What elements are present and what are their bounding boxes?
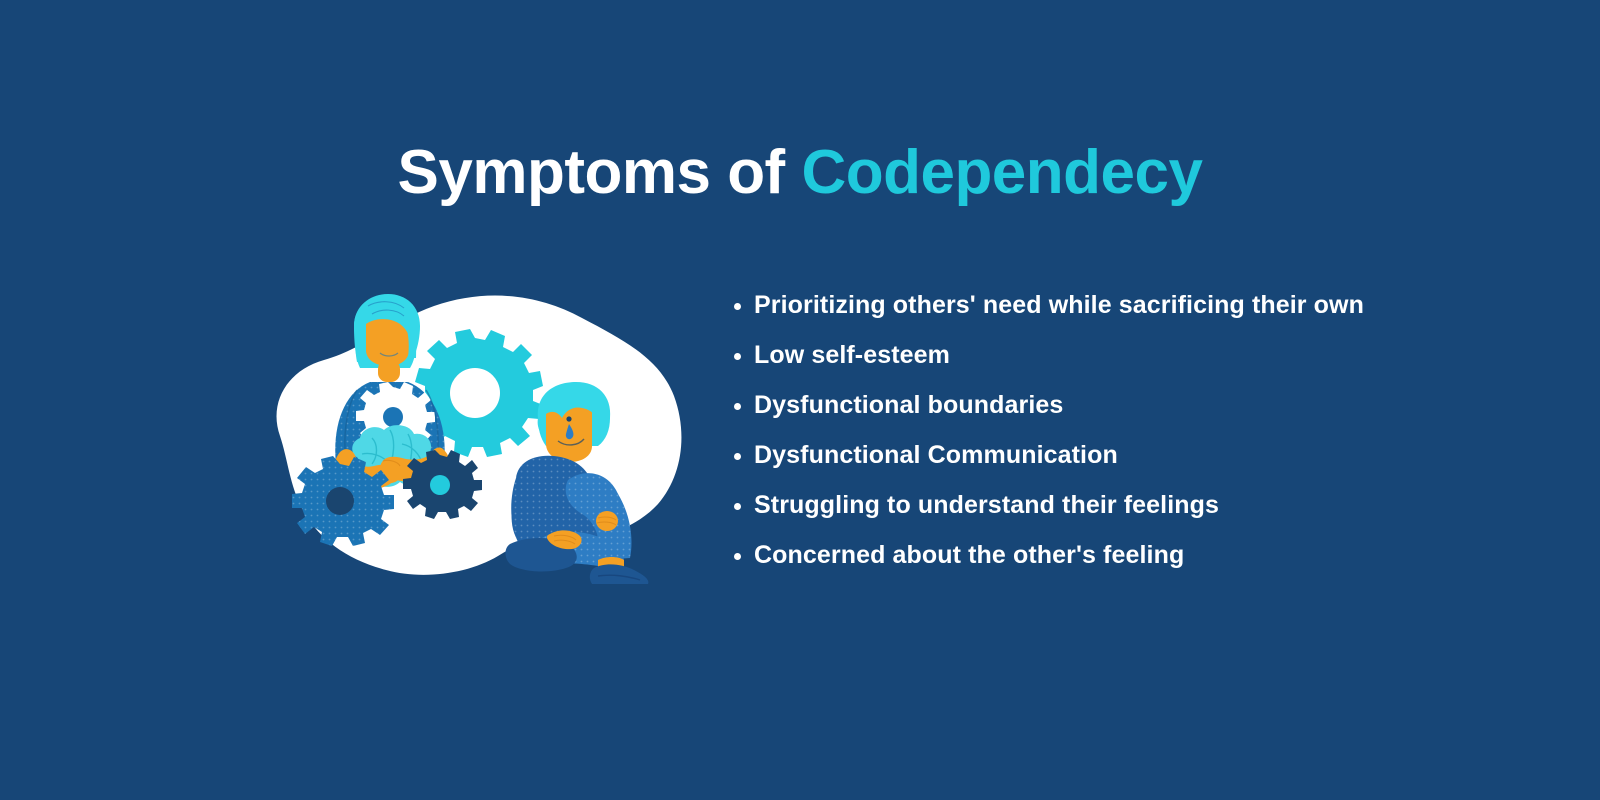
list-item: Dysfunctional boundaries [726,388,1546,438]
list-item: Low self-esteem [726,338,1546,388]
list-item: Prioritizing others' need while sacrific… [726,288,1546,338]
symptom-list: Prioritizing others' need while sacrific… [726,288,1546,588]
page-title: Symptoms of Codependecy [0,142,1600,204]
slide-canvas: Symptoms of Codependecy [0,0,1600,800]
list-item: Concerned about the other's feeling [726,538,1546,588]
codependency-illustration [262,278,692,588]
list-item: Dysfunctional Communication [726,438,1546,488]
list-item: Struggling to understand their feelings [726,488,1546,538]
title-accent: Codependecy [801,138,1202,207]
title-lead: Symptoms of [398,138,802,207]
